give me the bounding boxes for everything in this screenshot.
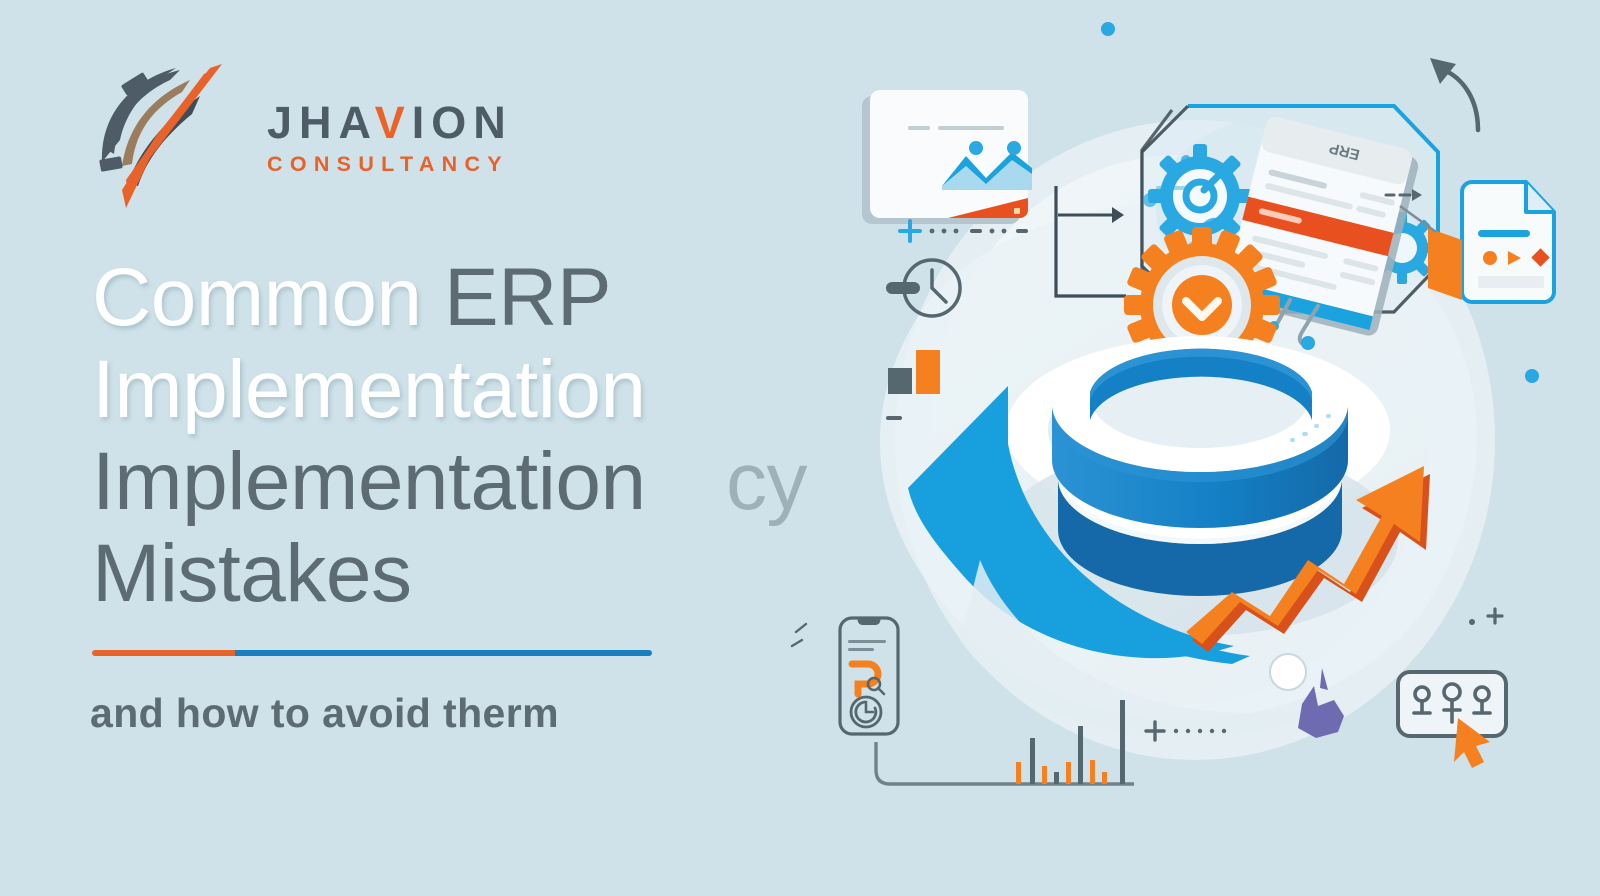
brand-wordmark: JHAVION CONSULTANCY	[267, 100, 567, 176]
headline-word-implementation-gray: Implementation	[92, 436, 646, 527]
curved-return-arrow	[1430, 58, 1478, 130]
brand-tagline: CONSULTANCY	[267, 154, 567, 176]
mini-bar-gray	[888, 368, 912, 394]
small-plus-right	[1469, 609, 1502, 625]
chart-card-dot-2	[1007, 141, 1021, 155]
brand-logo[interactable]: JHAVION CONSULTANCY	[92, 62, 512, 212]
blue-dot-right	[1525, 369, 1539, 383]
headline-line-2: Implementation	[92, 344, 852, 436]
brand-name-accent: V	[375, 97, 412, 148]
white-dot	[1270, 654, 1306, 690]
accent-divider	[92, 650, 652, 656]
brand-name: JHAVION	[267, 100, 567, 145]
divider-segment-blue	[235, 650, 652, 656]
tick-marks	[792, 624, 806, 646]
banner-root: JHAVION CONSULTANCY Common ERP Implement…	[0, 0, 1600, 896]
brand-name-part2: ION	[412, 97, 513, 148]
brand-name-part1: JHA	[267, 97, 375, 148]
headline-word-common: Common	[92, 252, 422, 343]
chart-card-line-2	[938, 126, 1004, 130]
chart-card-dot-1	[969, 141, 983, 155]
headline-word-implementation-white: Implementation	[92, 344, 646, 435]
people-card[interactable]	[1398, 672, 1506, 768]
headline-line-4: Mistakes	[92, 528, 852, 620]
left-content-panel: JHAVION CONSULTANCY Common ERP Implement…	[0, 0, 860, 896]
document-ribbon	[1428, 228, 1462, 300]
illustration-svg: ERP	[790, 0, 1600, 896]
page-title: Common ERP Implementation Implementation…	[92, 252, 852, 620]
headline-line-1: Common ERP	[92, 252, 852, 344]
document-line	[1478, 230, 1530, 237]
mini-bar-dash	[886, 416, 902, 420]
headline-line-3: Implementation cy	[92, 436, 852, 528]
hero-illustration: ERP	[790, 0, 1600, 896]
headline-word-mistakes: Mistakes	[92, 528, 412, 619]
chart-card-line-1	[908, 126, 930, 130]
page-subtitle: and how to avoid therm	[90, 688, 559, 738]
mini-bar-orange	[916, 350, 940, 394]
swoosh-feather-logo-icon	[92, 62, 222, 212]
chart-card[interactable]	[862, 90, 1032, 224]
divider-segment-orange	[92, 650, 235, 656]
phone-connector	[876, 742, 1048, 784]
document-shape-circle	[1483, 251, 1497, 265]
phone-device[interactable]	[840, 618, 898, 734]
headline-word-erp: ERP	[444, 252, 611, 343]
